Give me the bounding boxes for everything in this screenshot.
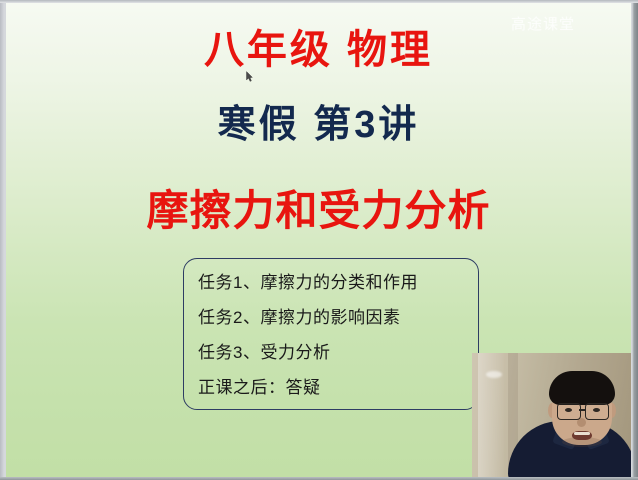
- task-list-item: 任务3、受力分析: [198, 335, 478, 370]
- task-list-item: 正课之后：答疑: [198, 370, 478, 405]
- task-list-box: 任务1、摩擦力的分类和作用 任务2、摩擦力的影响因素 任务3、受力分析 正课之后…: [183, 258, 479, 410]
- webcam-wall-highlight: [486, 371, 502, 378]
- task-list-item: 任务1、摩擦力的分类和作用: [198, 265, 478, 300]
- webcam-person-hair-fringe: [554, 387, 610, 401]
- webcam-person-eyeglass-left: [557, 403, 581, 420]
- presentation-slide: 高途课堂 八年级 物理 寒假 第3讲 摩擦力和受力分析 任务1、摩擦力的分类和作…: [6, 3, 631, 477]
- webcam-person-eyeglass-right: [585, 403, 609, 420]
- webcam-person-teeth: [574, 432, 590, 435]
- video-player[interactable]: 高途课堂 八年级 物理 寒假 第3讲 摩擦力和受力分析 任务1、摩擦力的分类和作…: [0, 0, 638, 480]
- task-list-item: 任务2、摩擦力的影响因素: [198, 300, 478, 335]
- slide-title-topic: 摩擦力和受力分析: [6, 185, 631, 237]
- slide-title-term: 寒假 第3讲: [6, 101, 631, 149]
- webcam-person-eyeglass-bridge: [579, 409, 585, 411]
- slide-title-grade: 八年级 物理: [6, 25, 631, 75]
- teacher-webcam-overlay[interactable]: [472, 353, 631, 477]
